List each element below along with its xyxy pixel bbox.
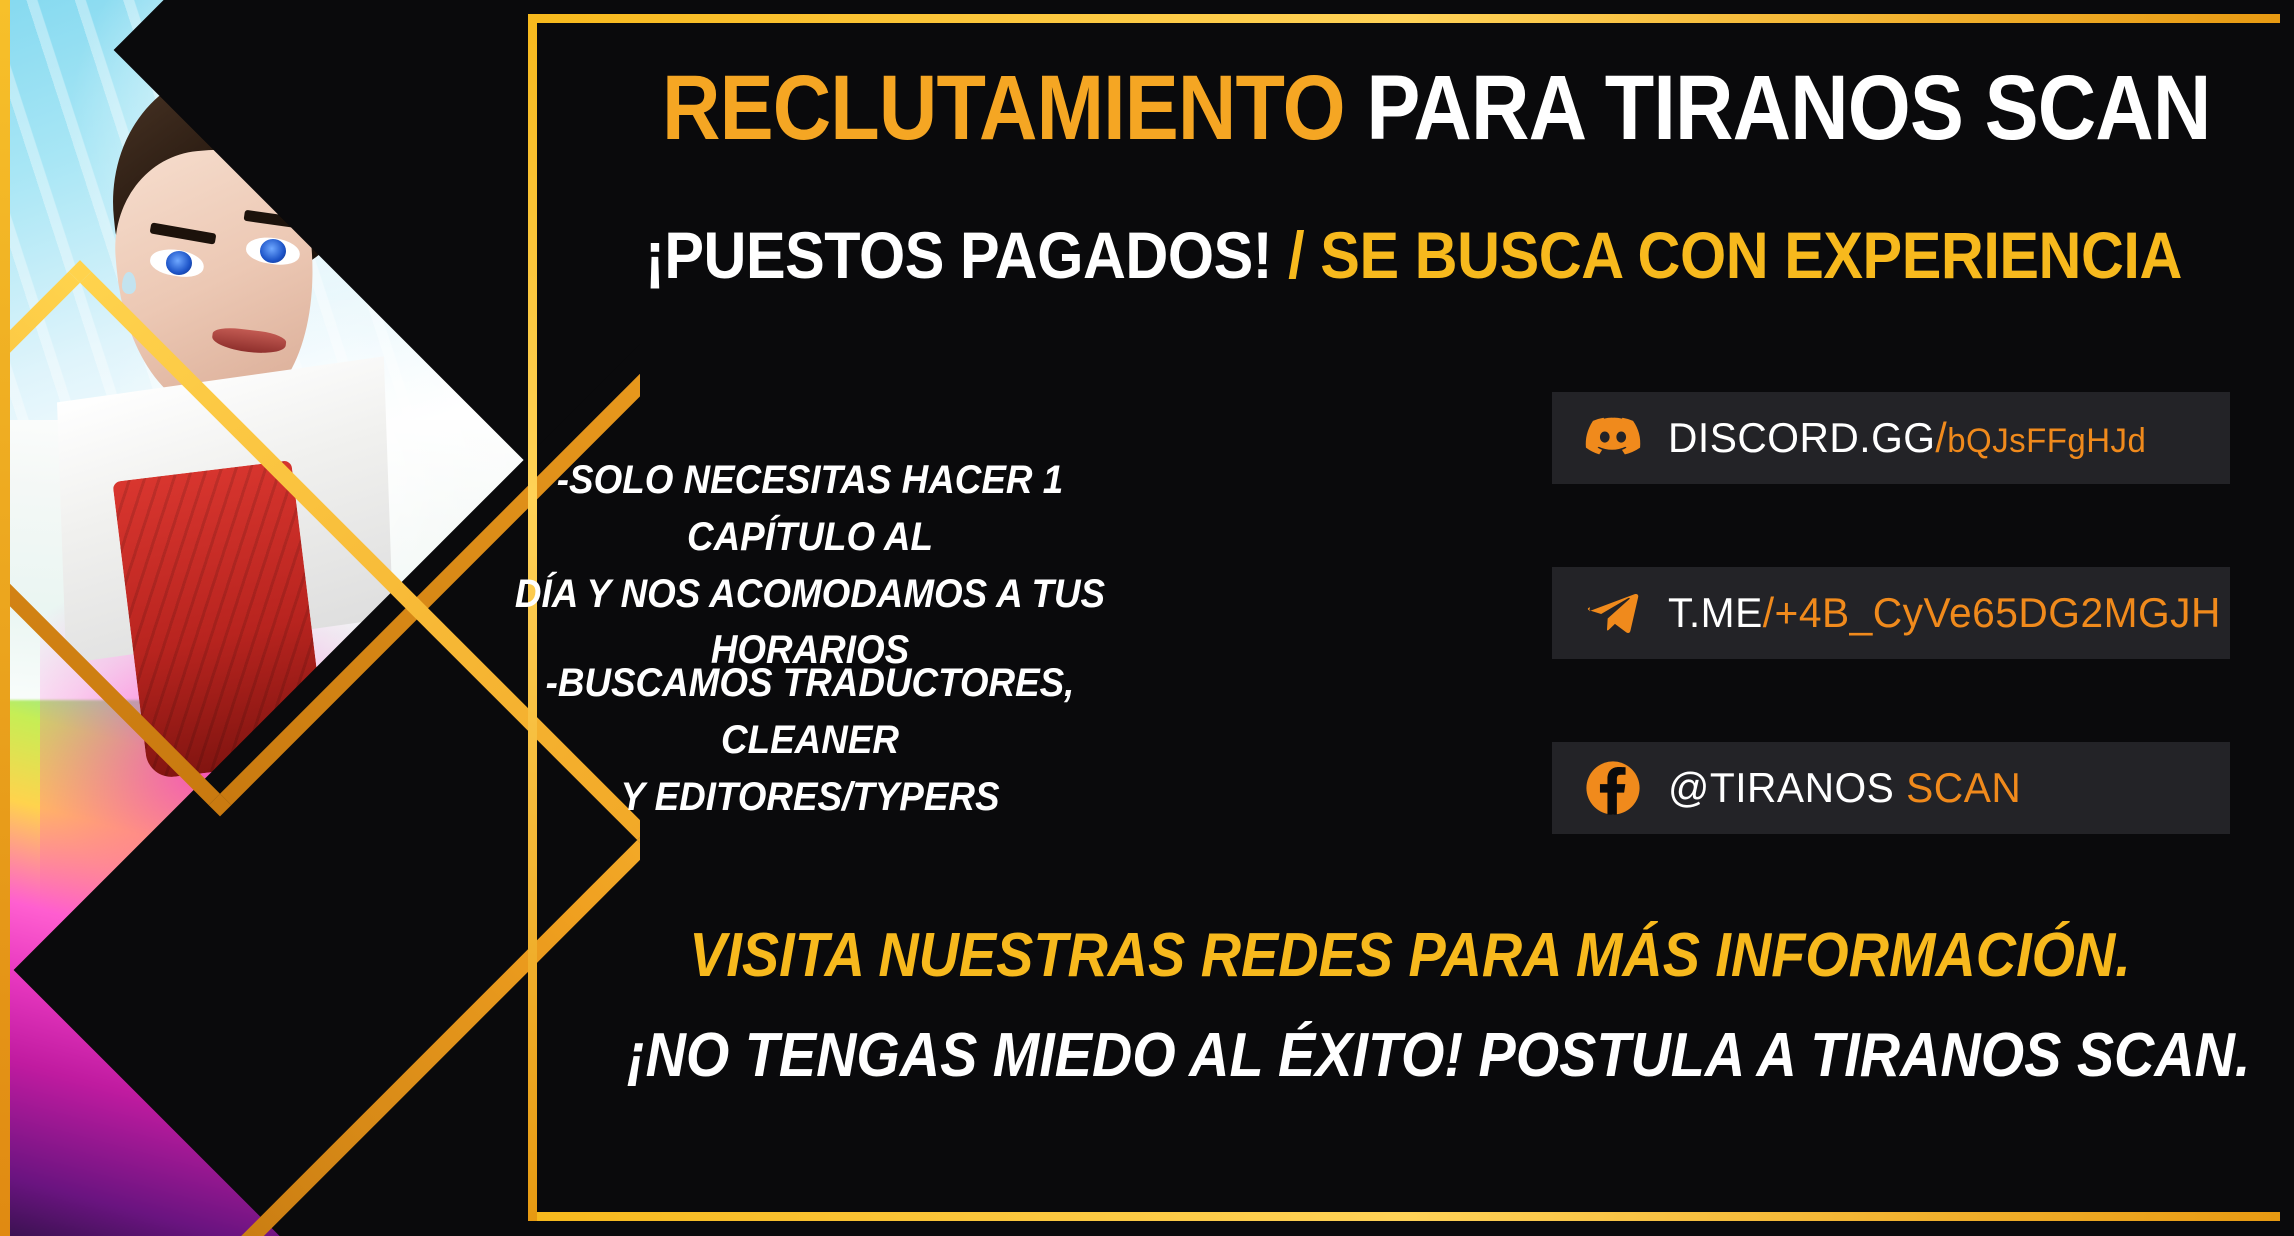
discord-icon [1584,409,1642,467]
contact-card-facebook[interactable]: @TIRANOS SCAN [1552,742,2230,834]
discord-code: bQJsFFgHJd [1947,422,2146,460]
telegram-icon [1584,584,1642,642]
contact-card-telegram[interactable]: T.ME/+4B_CyVe65DG2MGJH [1552,567,2230,659]
discord-domain: DISCORD.GG [1668,414,1935,461]
top-gold-rule [534,14,2280,23]
recruitment-banner: RECLUTAMIENTO PARA TIRANOS SCAN ¡PUESTOS… [0,0,2294,1236]
contact-text-discord: DISCORD.GG/bQJsFFgHJd [1668,414,2146,462]
facebook-scan-label: SCAN [1906,764,2021,811]
telegram-domain: T.ME [1668,589,1763,636]
headline-white-text: PARA TIRANOS SCAN [1345,57,2211,159]
facebook-separator [1894,764,1906,811]
headline: RECLUTAMIENTO PARA TIRANOS SCAN [662,62,2158,154]
footer-gold-line: VISITA NUESTRAS REDES PARA MÁS INFORMACI… [627,925,2193,987]
telegram-code: +4B_CyVe65DG2MGJH [1775,589,2221,636]
telegram-separator: / [1763,589,1775,636]
discord-separator: / [1935,414,1947,461]
body-copy-item-1-line-1: -SOLO NECESITAS HACER 1 CAPÍTULO AL [497,452,1123,566]
body-copy-item-2-line-2: Y EDITORES/TYPERS [497,769,1123,826]
subline-white-text: ¡PUESTOS PAGADOS! [645,218,1272,292]
subline-gold-text: SE BUSCA CON EXPERIENCIA [1320,218,2182,292]
body-copy-item-1: -SOLO NECESITAS HACER 1 CAPÍTULO AL DÍA … [497,452,1123,679]
contact-text-telegram: T.ME/+4B_CyVe65DG2MGJH [1668,589,2221,637]
body-copy-item-2-line-1: -BUSCAMOS TRADUCTORES, CLEANER [497,655,1123,769]
subline: ¡PUESTOS PAGADOS! / SE BUSCA CON EXPERIE… [645,222,2175,288]
bottom-gold-rule [534,1212,2280,1221]
contact-text-facebook: @TIRANOS SCAN [1668,764,2021,812]
subline-separator: / [1272,218,1320,292]
footer-white-line: ¡NO TENGAS MIEDO AL ÉXITO! POSTULA A TIR… [627,1025,2193,1087]
artwork-left-gold-edge [0,0,10,1236]
facebook-icon [1584,759,1642,817]
facebook-handle: @TIRANOS [1668,764,1894,811]
contact-card-discord[interactable]: DISCORD.GG/bQJsFFgHJd [1552,392,2230,484]
headline-gold-text: RECLUTAMIENTO [662,57,1345,159]
body-copy-item-2: -BUSCAMOS TRADUCTORES, CLEANER Y EDITORE… [497,655,1123,825]
